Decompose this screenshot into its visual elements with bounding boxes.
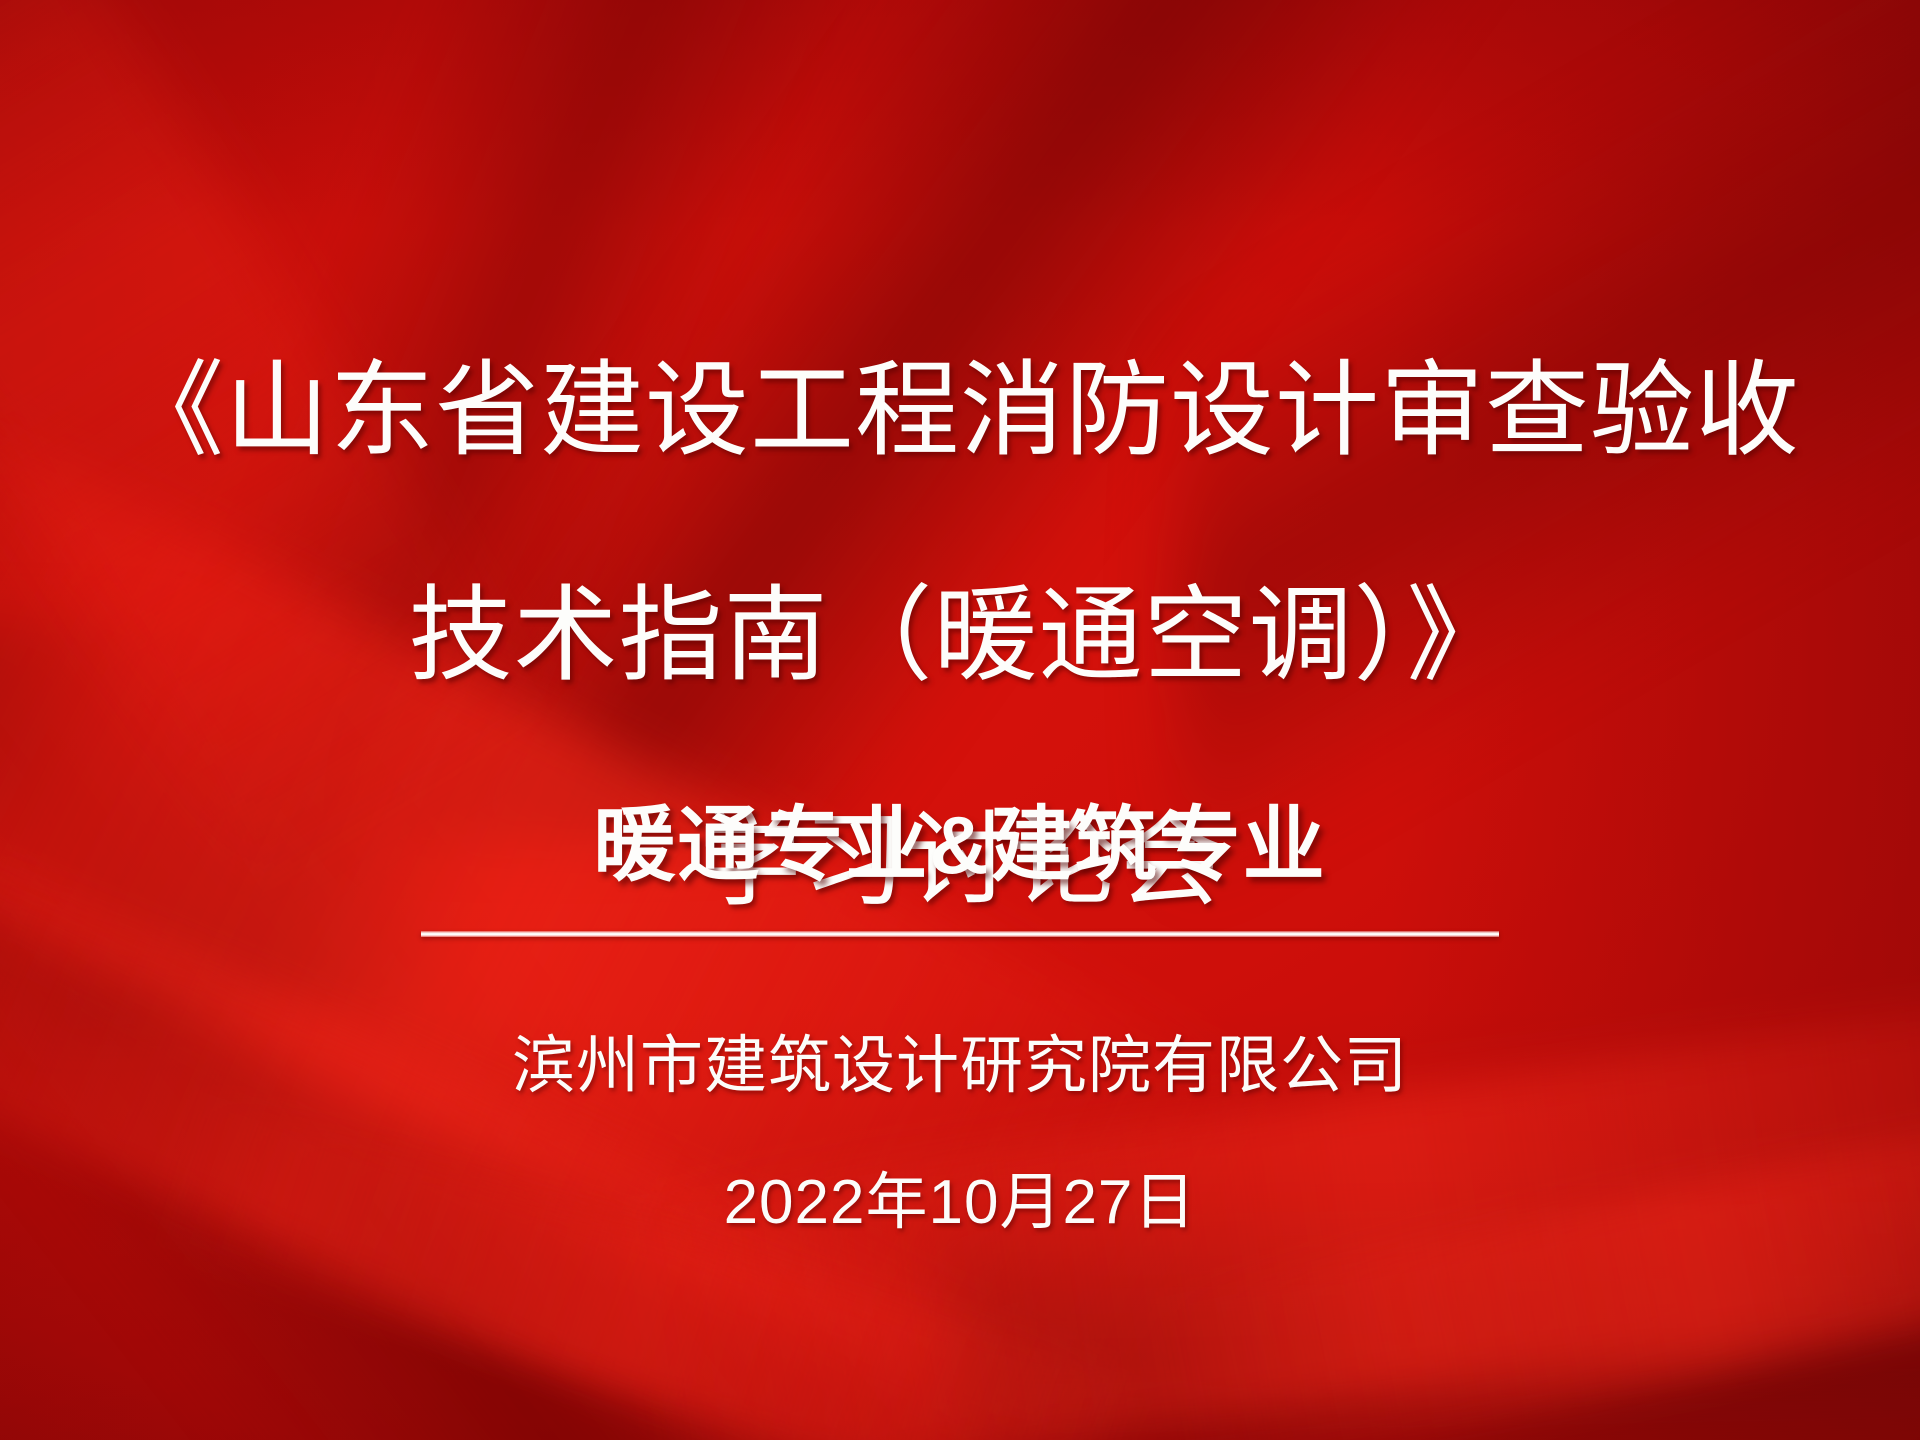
title-slide: 《山东省建设工程消防设计审查验收 技术指南（暖通空调）》 学习讨论会 暖通专业&… (0, 0, 1920, 1440)
organization-name: 滨州市建筑设计研究院有限公司 (0, 1035, 1920, 1098)
slide-title-line-2: 技术指南（暖通空调）》 (408, 578, 1511, 694)
slide-content: 《山东省建设工程消防设计审查验收 技术指南（暖通空调）》 学习讨论会 暖通专业&… (0, 0, 1920, 1440)
horizontal-rule-divider (421, 931, 1499, 937)
event-date: 2022年10月27日 (0, 1172, 1920, 1234)
slide-subject-heading: 暖通专业&建筑专业 (0, 805, 1920, 887)
slide-title-line-1: 《山东省建设工程消防设计审查验收 (120, 353, 1800, 469)
